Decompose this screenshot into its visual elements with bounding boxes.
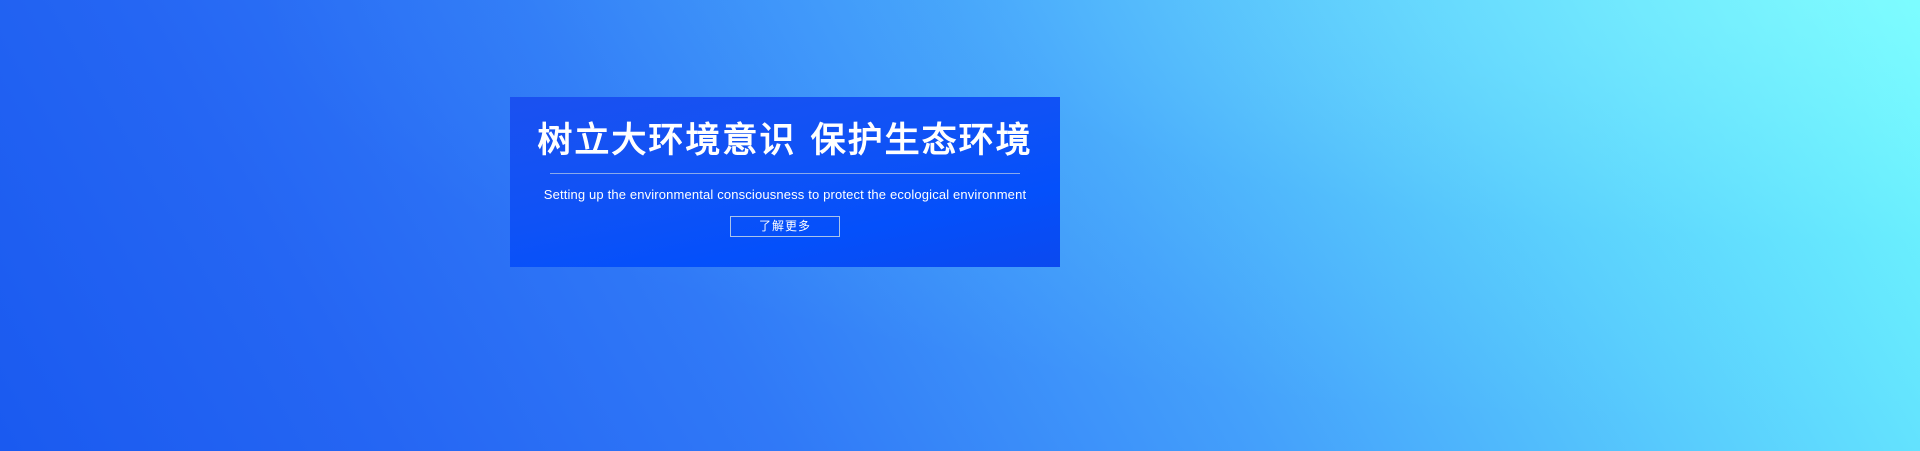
page-title: 树立大环境意识 保护生态环境 [537,123,1032,160]
hero-panel: 树立大环境意识 保护生态环境 Setting up the environmen… [510,97,1060,267]
title-divider [550,173,1020,174]
hero-banner: 树立大环境意识 保护生态环境 Setting up the environmen… [0,0,1920,451]
learn-more-button[interactable]: 了解更多 [730,216,840,237]
hero-subtitle: Setting up the environmental consciousne… [544,187,1026,203]
